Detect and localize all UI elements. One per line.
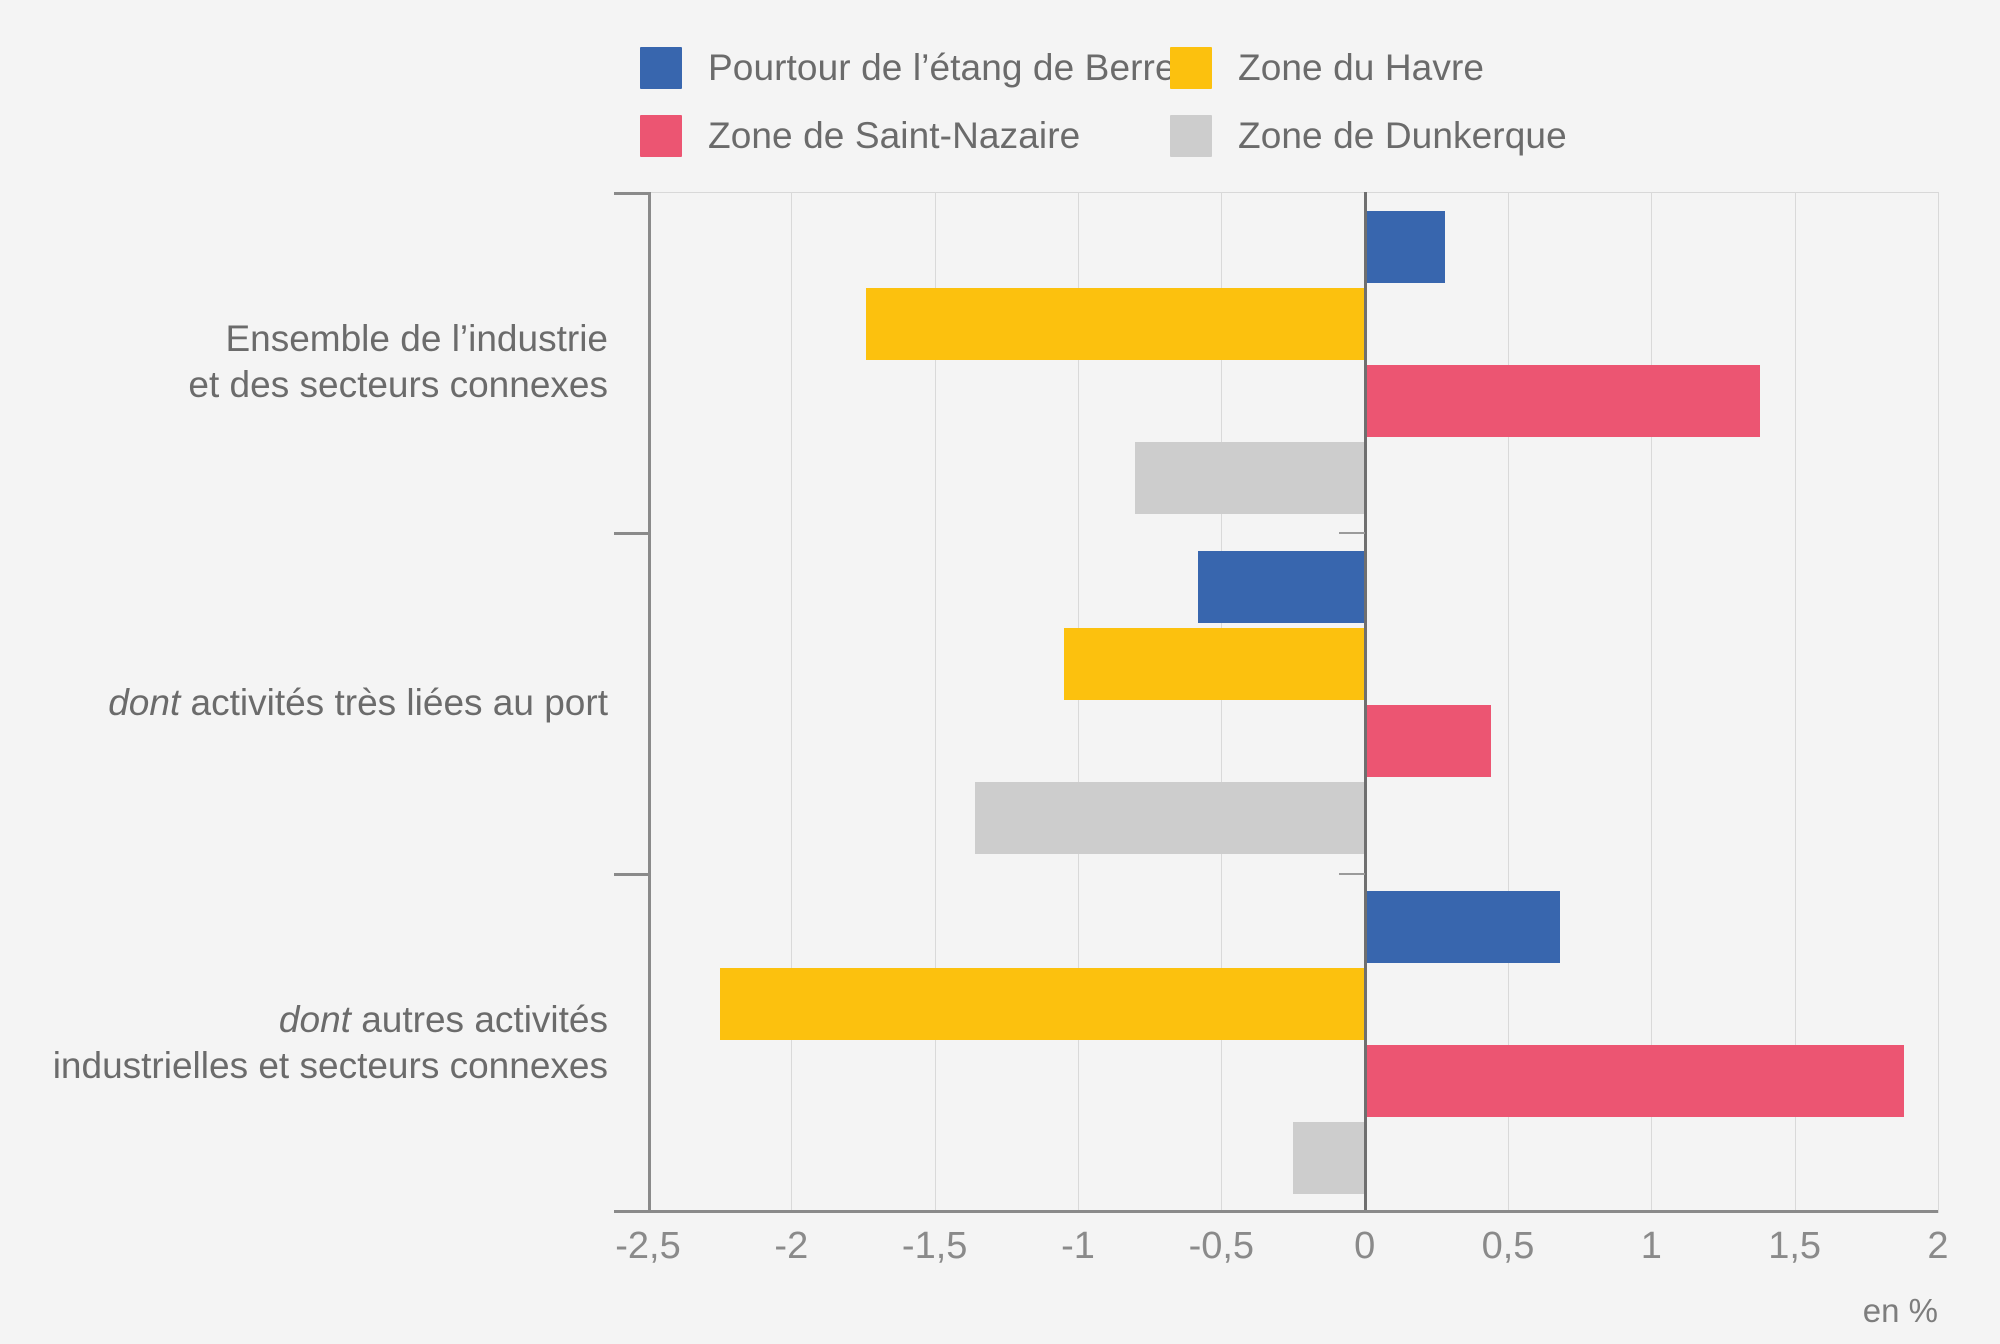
legend-item-dunkerque[interactable]: Zone de Dunkerque [1170,115,1700,157]
bar-1-1 [1064,628,1365,700]
group-tick [614,873,648,876]
legend-label-berre: Pourtour de l’étang de Berre [708,47,1176,89]
legend-item-havre[interactable]: Zone du Havre [1170,47,1700,89]
category-label-autres-activites: dont autres activitésindustrielles et se… [8,997,608,1089]
x-tick-label: -2,5 [615,1225,680,1268]
zero-axis-line [1364,192,1367,1213]
chart-legend: Pourtour de l’étang de Berre Zone du Hav… [640,34,1760,170]
legend-swatch-icon-dunkerque [1170,115,1212,157]
legend-swatch-icon-berre [640,47,682,89]
legend-item-berre[interactable]: Pourtour de l’étang de Berre [640,47,1170,89]
bar-1-0 [1198,551,1364,623]
chart-figure: Pourtour de l’étang de Berre Zone du Hav… [0,0,2000,1344]
legend-label-havre: Zone du Havre [1238,47,1484,89]
bar-2-0 [1365,891,1560,963]
x-tick-label: 0 [1354,1225,1375,1268]
x-tick-label: 1 [1641,1225,1662,1268]
bar-0-1 [866,288,1365,360]
legend-swatch-icon-havre [1170,47,1212,89]
gridline [1938,192,1939,1213]
zero-group-tick [1339,532,1365,534]
axis-unit-label: en % [1863,1292,1938,1330]
gridline [791,192,792,1213]
x-tick-label: 2 [1927,1225,1948,1268]
x-tick-label: -1,5 [902,1225,967,1268]
x-tick-label: -1 [1061,1225,1095,1268]
bar-0-2 [1365,365,1761,437]
bar-2-1 [720,968,1365,1040]
y-axis-line [648,192,651,1213]
bar-2-3 [1293,1122,1365,1194]
bar-1-3 [975,782,1365,854]
legend-swatch-icon-saint-nazaire [640,115,682,157]
bar-0-0 [1365,211,1445,283]
group-tick [614,1210,648,1213]
bar-0-3 [1135,442,1364,514]
legend-item-saint-nazaire[interactable]: Zone de Saint-Nazaire [640,115,1170,157]
plot-area [648,192,1938,1213]
x-tick-label: 1,5 [1768,1225,1821,1268]
legend-label-saint-nazaire: Zone de Saint-Nazaire [708,115,1080,157]
zero-group-tick [1339,873,1365,875]
category-label-ensemble: Ensemble de l’industrieet des secteurs c… [8,316,608,408]
bar-1-2 [1365,705,1491,777]
x-tick-label: 0,5 [1482,1225,1535,1268]
x-axis-line [648,1210,1938,1213]
legend-label-dunkerque: Zone de Dunkerque [1238,115,1567,157]
group-tick [614,532,648,535]
bar-2-2 [1365,1045,1904,1117]
category-label-activites-liees-port: dont activités très liées au port [8,680,608,726]
group-tick [614,192,648,195]
x-tick-label: -0,5 [1189,1225,1254,1268]
x-tick-label: -2 [774,1225,808,1268]
plot-top-border [648,192,1938,193]
